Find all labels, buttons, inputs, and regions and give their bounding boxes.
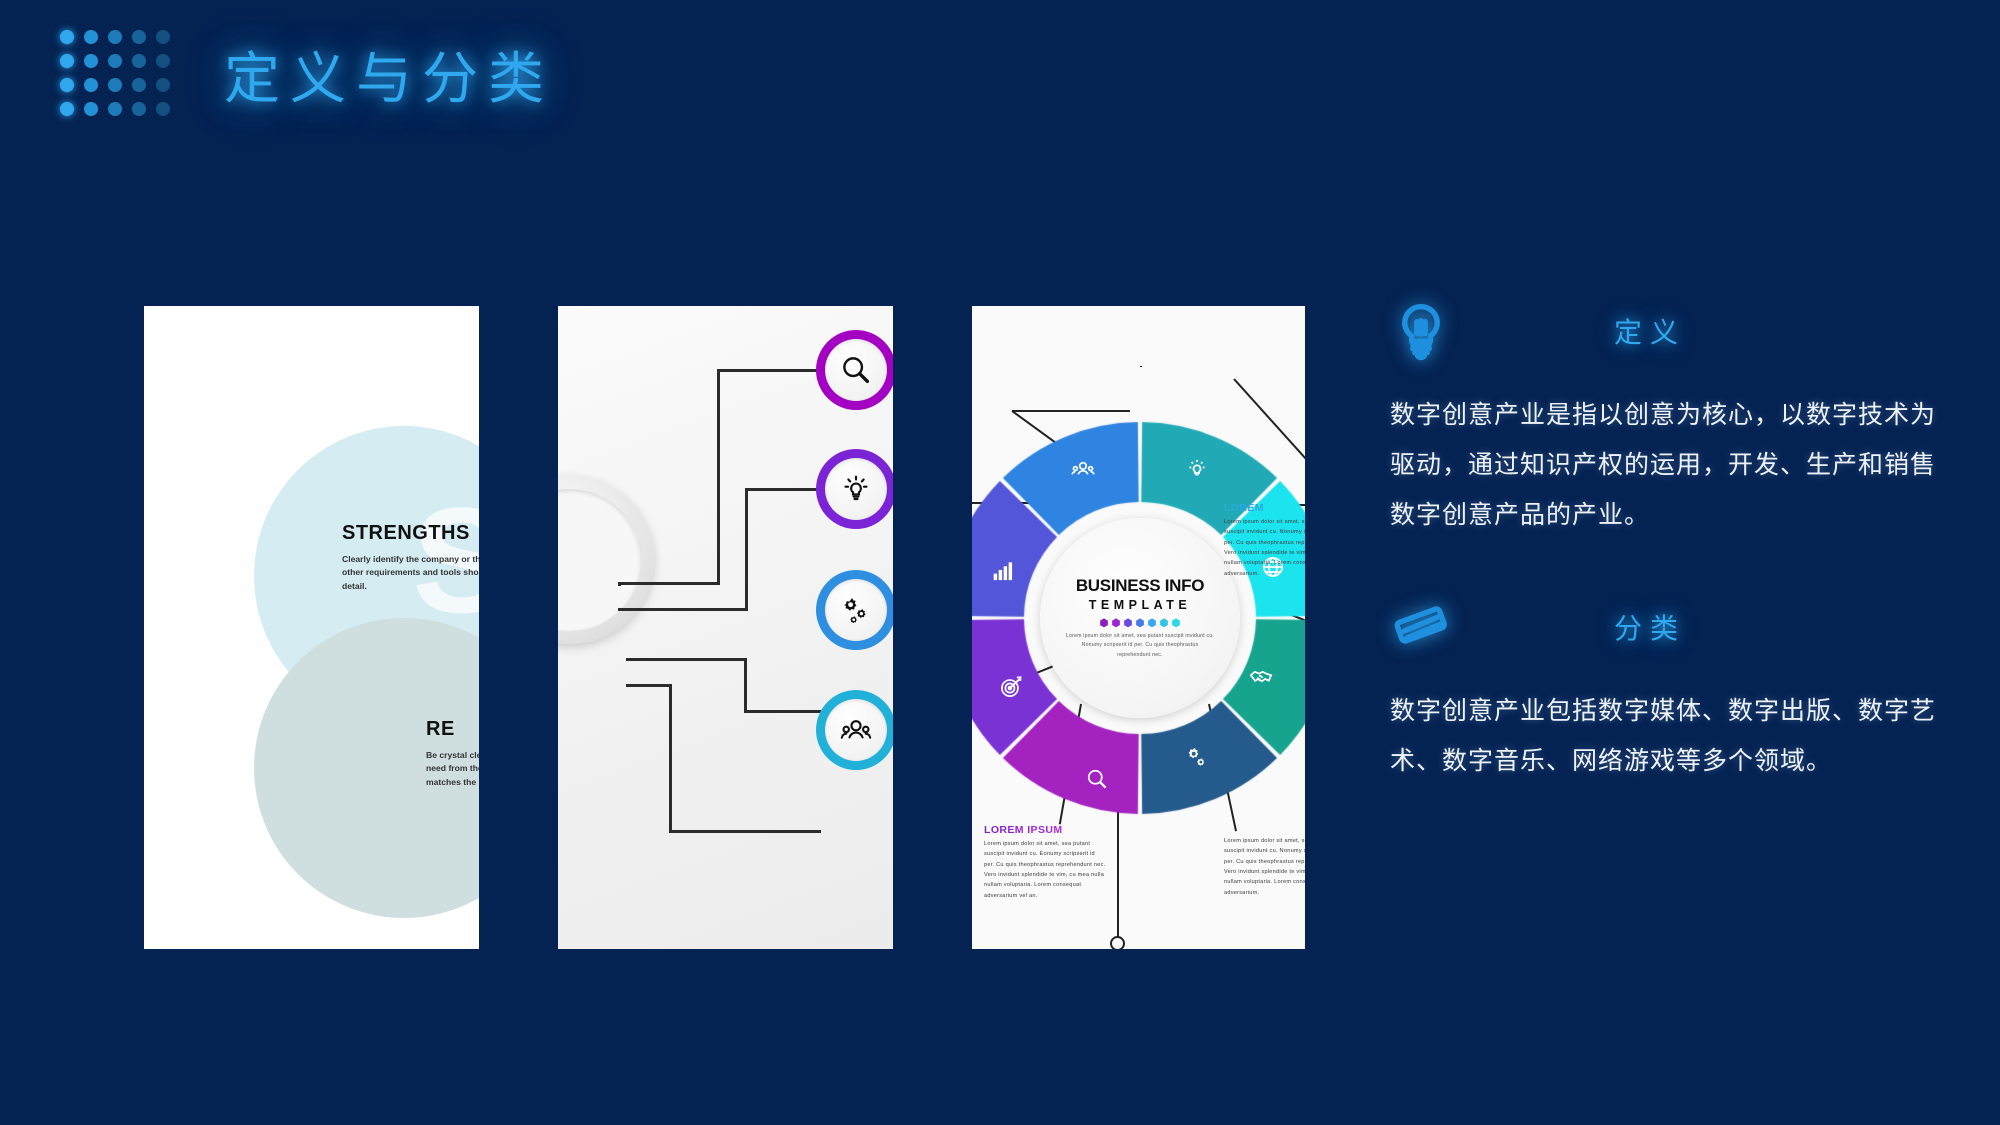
business-info-title: BUSINESS INFO [1076,576,1204,596]
connector-line [744,710,821,713]
callout-heading: LOREM [1224,502,1305,514]
hex-dot [1148,618,1157,627]
layers-icon [1390,596,1452,658]
recommend-heading: RE [426,718,479,741]
node-inner [825,339,887,401]
hex-dot [1160,618,1169,627]
callout-top-right: LOREM Lorem ipsum dolor sit amet, sea pu… [1224,502,1305,579]
connector-line [745,488,821,491]
grid-dot [84,102,98,116]
connector-line [669,684,672,833]
grid-dot [60,102,74,116]
process-hub-circle [558,476,654,644]
hex-dot [1112,618,1121,627]
hex-dot [1172,618,1181,627]
leader-line [1117,806,1119,942]
lightbulb-icon [1390,300,1452,362]
callout-bottom-right: Lorem ipsum dolor sit amet, sea putant s… [1224,836,1305,898]
grid-dot [84,78,98,92]
process-node-gears[interactable] [816,570,893,650]
slide-header: 定义与分类 [60,30,554,118]
leader-endcap [1110,936,1125,949]
magnifier-icon [839,353,873,387]
segment-icon-target [998,674,1024,700]
process-node-lightbulb[interactable] [816,449,893,529]
right-text-column: 定义 数字创意产业是指以创意为核心，以数字技术为驱动，通过知识产权的运用，开发、… [1390,300,1950,842]
people-icon [839,713,873,747]
grid-dot [60,30,74,44]
definition-block: 定义 数字创意产业是指以创意为核心，以数字技术为驱动，通过知识产权的运用，开发、… [1390,300,1950,540]
grid-dot [84,54,98,68]
callout-body: Lorem ipsum dolor sit amet, sea putant s… [1224,517,1305,579]
grid-dot [156,54,170,68]
gears-icon [839,593,873,627]
donut-center: BUSINESS INFO TEMPLATE Lorem ipsum dolor… [1040,518,1240,718]
connector-line [618,582,720,585]
swot-strengths-card[interactable]: S STRENGTHS Clearly identify the company… [144,306,479,949]
grid-dot [108,78,122,92]
callout-body: Lorem ipsum dolor sit amet, sea putant s… [984,839,1106,901]
node-inner [825,458,887,520]
grid-dot [156,78,170,92]
classification-body: 数字创意产业包括数字媒体、数字出版、数字艺术、数字音乐、网络游戏等多个领域。 [1390,686,1950,786]
business-info-lorem: Lorem ipsum dolor sit amet, sea putant s… [1065,632,1215,659]
strengths-text-block: STRENGTHS Clearly identify the company o… [342,522,479,593]
lightbulb-icon [839,472,873,506]
segment-icon-bar-chart [990,558,1016,584]
connector-line [626,658,746,661]
grid-dot [60,78,74,92]
grid-dot [156,30,170,44]
grid-dot [108,54,122,68]
definition-header: 定义 [1390,300,1950,362]
segment-icon-people [1070,456,1096,482]
callout-heading: LOREM IPSUM [984,824,1106,836]
connector-line [626,684,672,687]
process-node-people[interactable] [816,690,893,770]
hex-dot [1100,618,1109,627]
strengths-body: Clearly identify the company or the targ… [342,553,479,593]
recommend-text-block: RE Be crystal clear on who the customer … [426,718,479,789]
connector-line [717,369,821,372]
connector-line [717,369,720,585]
page-title: 定义与分类 [224,34,554,115]
classification-header: 分类 [1390,596,1950,658]
process-node-magnifier[interactable] [816,330,893,410]
business-info-donut-card[interactable]: BUSINESS INFO TEMPLATE Lorem ipsum dolor… [972,306,1305,949]
grid-dot [132,30,146,44]
grid-dot [108,30,122,44]
process-connector-card[interactable] [558,306,893,949]
segment-icon-lightbulb [1184,456,1210,482]
node-inner [825,699,887,761]
classification-block: 分类 数字创意产业包括数字媒体、数字出版、数字艺术、数字音乐、网络游戏等多个领域… [1390,596,1950,786]
donut-chart[interactable]: BUSINESS INFO TEMPLATE Lorem ipsum dolor… [972,414,1305,822]
grid-dot [132,78,146,92]
hex-dot [1136,618,1145,627]
grid-dot [156,102,170,116]
grid-dot [108,102,122,116]
hex-dot-row [1100,618,1181,627]
connector-line [618,608,748,611]
recommend-body: Be crystal clear on who the customer is,… [426,749,479,789]
segment-icon-magnifier [1084,766,1110,792]
node-inner [825,579,887,641]
hex-dot [1124,618,1133,627]
classification-title: 分类 [1614,607,1686,647]
leader-line [1140,366,1142,367]
connector-line [744,658,747,713]
decorative-dot-grid [60,30,172,118]
callout-bottom-left: LOREM IPSUM Lorem ipsum dolor sit amet, … [984,824,1106,901]
segment-icon-gears [1184,744,1210,770]
business-info-subtitle: TEMPLATE [1089,598,1191,612]
leader-line [1012,410,1130,412]
strengths-heading: STRENGTHS [342,522,479,545]
grid-dot [132,54,146,68]
grid-dot [60,54,74,68]
grid-dot [84,30,98,44]
connector-line [745,488,748,611]
definition-title: 定义 [1614,311,1686,351]
grid-dot [132,102,146,116]
connector-line [669,830,821,833]
callout-body: Lorem ipsum dolor sit amet, sea putant s… [1224,836,1305,898]
segment-icon-handshake [1248,664,1274,690]
definition-body: 数字创意产业是指以创意为核心，以数字技术为驱动，通过知识产权的运用，开发、生产和… [1390,390,1950,540]
